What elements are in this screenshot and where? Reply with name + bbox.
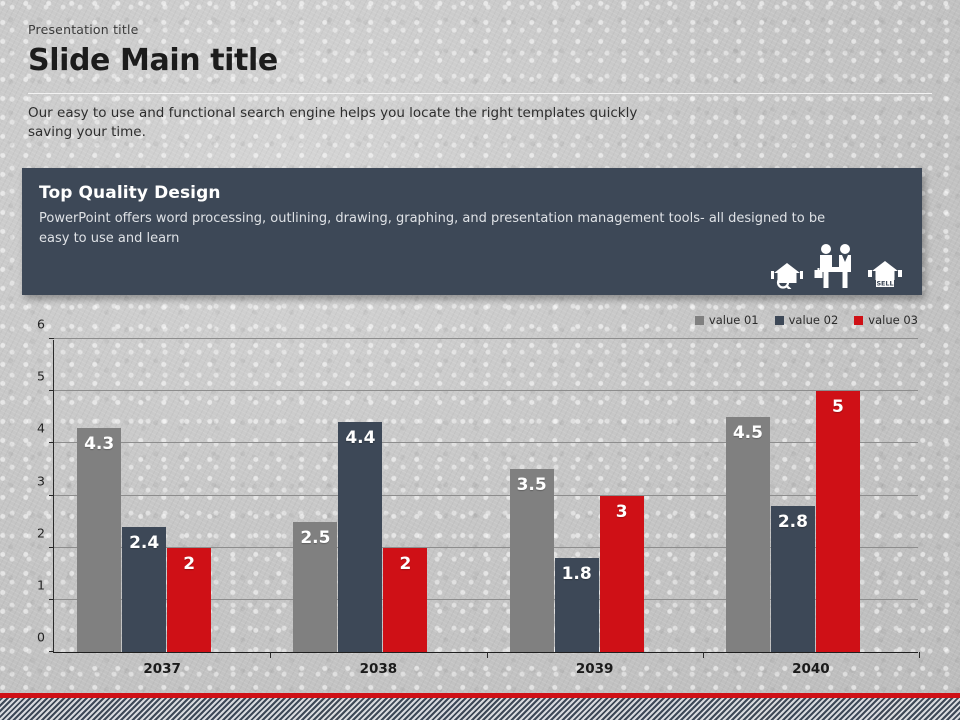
x-axis-category-label: 2037 bbox=[54, 661, 270, 677]
bar-value-label: 2 bbox=[183, 555, 195, 652]
legend-label: value 01 bbox=[709, 313, 759, 327]
bar-value-label: 1.8 bbox=[562, 565, 592, 652]
bar-value-label: 2.4 bbox=[129, 534, 159, 652]
x-axis-category-label: 2038 bbox=[270, 661, 486, 677]
x-axis-tick bbox=[487, 652, 488, 658]
bar-2038-value-03[interactable]: 2 bbox=[383, 548, 427, 652]
y-axis-tick-label: 2 bbox=[37, 525, 45, 540]
legend-label: value 03 bbox=[868, 313, 918, 327]
title-divider bbox=[28, 93, 932, 94]
bar-value-label: 5 bbox=[832, 398, 844, 652]
bar-2037-value-02[interactable]: 2.4 bbox=[122, 527, 166, 652]
page-title: Slide Main title bbox=[28, 42, 932, 80]
bar-2040-value-02[interactable]: 2.8 bbox=[771, 506, 815, 652]
house-search-icon bbox=[770, 259, 804, 289]
x-axis-tick bbox=[703, 652, 704, 658]
y-axis-tick-label: 5 bbox=[37, 369, 45, 384]
x-axis-tick bbox=[270, 652, 271, 658]
legend-item-2[interactable]: value 02 bbox=[775, 313, 839, 327]
bar-value-label: 4.3 bbox=[84, 435, 114, 652]
svg-text:SELL: SELL bbox=[876, 279, 893, 287]
y-axis-tick-label: 4 bbox=[37, 421, 45, 436]
bar-value-label: 3 bbox=[616, 503, 628, 653]
banner-icon-row: SELL bbox=[770, 243, 904, 289]
bar-value-label: 2.8 bbox=[778, 513, 808, 652]
highlight-banner: Top Quality Design PowerPoint offers wor… bbox=[22, 168, 922, 295]
bar-2037-value-03[interactable]: 2 bbox=[167, 548, 211, 652]
footer-stripe-band bbox=[0, 698, 960, 720]
presentation-title-eyebrow: Presentation title bbox=[28, 22, 932, 38]
legend-swatch-icon bbox=[775, 316, 784, 325]
bar-2039-value-01[interactable]: 3.5 bbox=[510, 469, 554, 652]
bar-group-2039: 3.51.832039 bbox=[487, 340, 703, 652]
plot-area: 01234564.32.4220372.54.4220383.51.832039… bbox=[53, 340, 918, 653]
bar-2038-value-02[interactable]: 4.4 bbox=[338, 422, 382, 652]
bar-group-2038: 2.54.422038 bbox=[270, 340, 486, 652]
chart-legend: value 01value 02value 03 bbox=[695, 313, 918, 327]
banner-description: PowerPoint offers word processing, outli… bbox=[39, 209, 859, 249]
x-axis-tick bbox=[919, 652, 920, 658]
bar-chart: 01234564.32.4220372.54.4220383.51.832039… bbox=[53, 340, 918, 653]
x-axis-category-label: 2040 bbox=[703, 661, 919, 677]
bar-value-label: 2.5 bbox=[300, 529, 330, 652]
legend-label: value 02 bbox=[789, 313, 839, 327]
y-axis-tick-label: 0 bbox=[37, 630, 45, 645]
handshake-people-icon bbox=[812, 243, 858, 289]
bar-value-label: 2 bbox=[399, 555, 411, 652]
slide-canvas: Presentation title Slide Main title Our … bbox=[0, 0, 960, 720]
bar-2039-value-03[interactable]: 3 bbox=[600, 496, 644, 653]
y-axis-tick-label: 6 bbox=[37, 317, 45, 332]
y-axis-tick-label: 3 bbox=[37, 473, 45, 488]
bar-group-2037: 4.32.422037 bbox=[54, 340, 270, 652]
x-axis-category-label: 2039 bbox=[487, 661, 703, 677]
y-axis-tick-label: 1 bbox=[37, 577, 45, 592]
banner-heading: Top Quality Design bbox=[39, 183, 221, 203]
bar-value-label: 3.5 bbox=[517, 476, 547, 652]
slide-subtitle: Our easy to use and functional search en… bbox=[28, 104, 668, 142]
legend-item-1[interactable]: value 01 bbox=[695, 313, 759, 327]
slide-header: Presentation title Slide Main title bbox=[28, 22, 932, 80]
bar-2040-value-01[interactable]: 4.5 bbox=[726, 417, 770, 652]
bar-2037-value-01[interactable]: 4.3 bbox=[77, 428, 121, 652]
gridline bbox=[54, 338, 918, 339]
bar-value-label: 4.4 bbox=[345, 429, 375, 652]
bar-group-2040: 4.52.852040 bbox=[703, 340, 919, 652]
bar-value-label: 4.5 bbox=[733, 424, 763, 652]
bar-2039-value-02[interactable]: 1.8 bbox=[555, 558, 599, 652]
bar-2038-value-01[interactable]: 2.5 bbox=[293, 522, 337, 652]
house-for-sell-icon: SELL bbox=[866, 259, 904, 289]
legend-swatch-icon bbox=[854, 316, 863, 325]
bar-2040-value-03[interactable]: 5 bbox=[816, 391, 860, 652]
y-axis-tick bbox=[49, 338, 54, 339]
legend-swatch-icon bbox=[695, 316, 704, 325]
legend-item-3[interactable]: value 03 bbox=[854, 313, 918, 327]
